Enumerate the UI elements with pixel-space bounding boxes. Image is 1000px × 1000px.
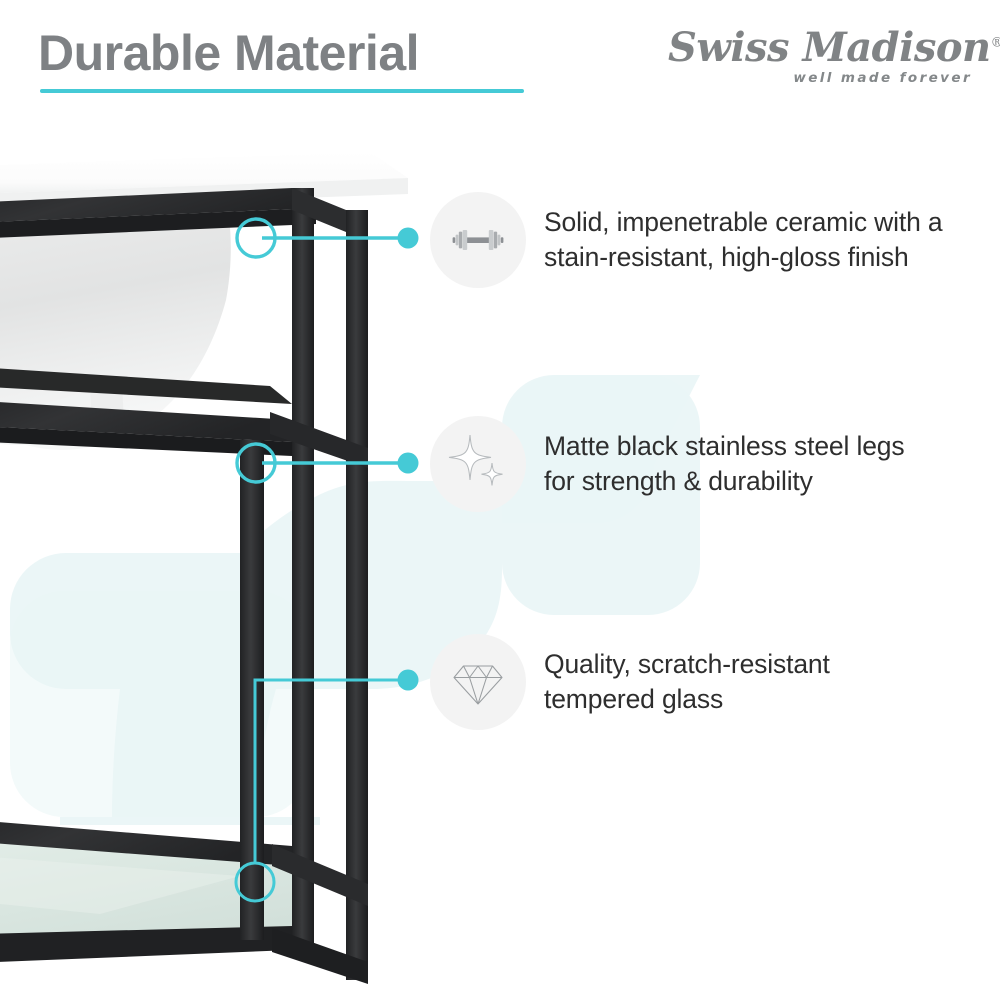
brand-name: Swiss Madison® [668, 28, 978, 68]
frame-post-front [346, 210, 368, 980]
feature-row-glass: Quality, scratch-resistant tempered glas… [430, 630, 990, 734]
frame-mid-rail-rear [0, 362, 292, 404]
header: Durable Material Swiss Madison® well mad… [0, 0, 1000, 120]
sparkle-icon [445, 431, 511, 497]
feature-row-legs: Matte black stainless steel legs for str… [430, 412, 990, 516]
dumbbell-icon [447, 209, 509, 271]
callout-glass [236, 670, 419, 902]
feature-line-1: Matte black stainless steel legs [544, 429, 904, 464]
feature-line-2: tempered glass [544, 682, 830, 717]
page-title: Durable Material [38, 24, 419, 82]
feature-line-2: stain-resistant, high-gloss finish [544, 240, 942, 275]
brand-logo: Swiss Madison® well made forever [668, 28, 978, 90]
sink-basin [0, 212, 231, 450]
frame-post-rear [292, 188, 314, 948]
brand-tagline: well made forever [793, 70, 972, 86]
sparkle-icon-badge [430, 416, 526, 512]
dumbbell-icon-badge [430, 192, 526, 288]
feature-row-ceramic: Solid, impenetrable ceramic with a stain… [430, 188, 990, 292]
infographic-canvas: Durable Material Swiss Madison® well mad… [0, 0, 1000, 1000]
glass-shelf [0, 830, 292, 950]
feature-text-ceramic: Solid, impenetrable ceramic with a stain… [544, 205, 942, 275]
feature-line-1: Solid, impenetrable ceramic with a [544, 205, 942, 240]
feature-text-glass: Quality, scratch-resistant tempered glas… [544, 647, 830, 717]
diamond-icon-badge [430, 634, 526, 730]
frame-mid-rail [0, 396, 368, 468]
countertop [0, 152, 408, 212]
brand-name-text: Swiss Madison [668, 24, 991, 71]
feature-line-1: Quality, scratch-resistant [544, 647, 830, 682]
registered-trademark-icon: ® [991, 36, 1000, 51]
feature-text-legs: Matte black stainless steel legs for str… [544, 429, 904, 499]
frame-leg-front-left [240, 440, 264, 940]
console-sink-product-image [0, 150, 420, 1000]
diamond-icon [449, 653, 507, 711]
frame-shelf-rails [0, 814, 368, 984]
frame-top-rail [0, 188, 316, 242]
callout-legs [237, 444, 419, 482]
feature-line-2: for strength & durability [544, 464, 904, 499]
callout-ceramic [237, 219, 419, 257]
title-underline [40, 89, 524, 93]
